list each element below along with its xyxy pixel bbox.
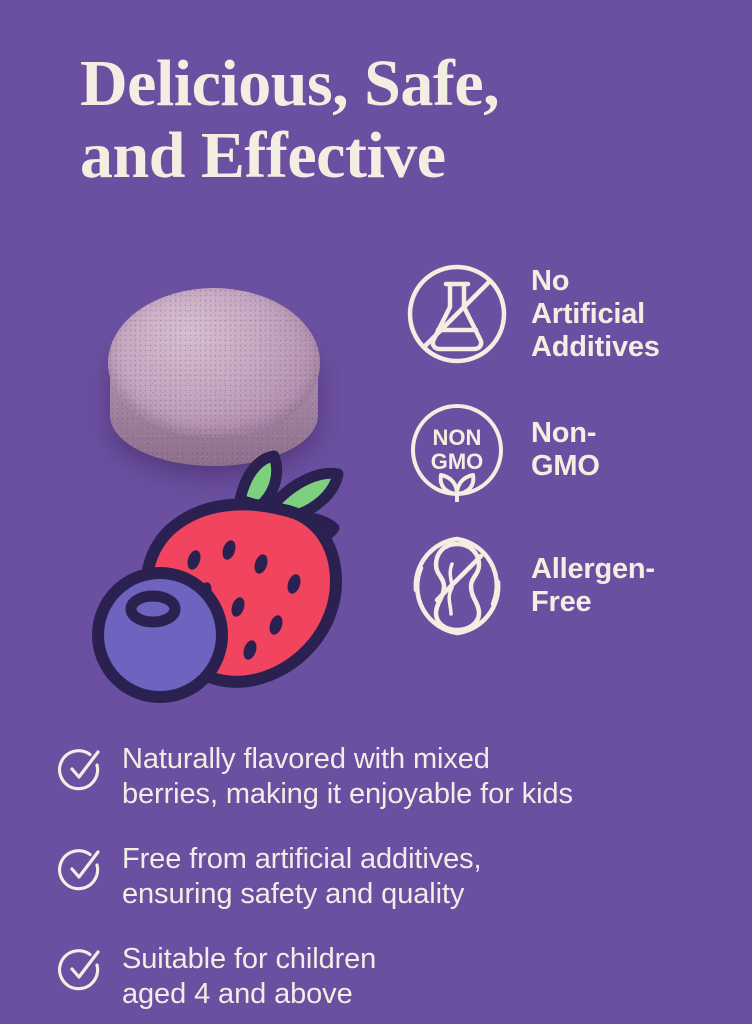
list-item-text: Naturally flavored with mixed berries, m… [122, 742, 573, 812]
product-illustration [0, 250, 400, 720]
certification-badges: No Artificial Additives NON GMO Non- [405, 262, 745, 638]
badge-no-artificial-additives: No Artificial Additives [405, 262, 745, 366]
badge-allergen-free: Allergen- Free [405, 534, 745, 638]
mixed-berries-illustration [88, 442, 388, 707]
badge-label-non-gmo: Non- GMO [531, 417, 600, 483]
non-gmo-sprout-icon: NON GMO [405, 398, 509, 502]
feature-bullet-list: Naturally flavored with mixed berries, m… [58, 742, 728, 1012]
list-item-line-2: ensuring safety and quality [122, 877, 482, 912]
list-item-line-1: Suitable for children [122, 942, 376, 977]
list-item-line-1: Naturally flavored with mixed [122, 742, 573, 777]
check-circle-icon [58, 846, 104, 892]
list-item: Suitable for children aged 4 and above [58, 942, 728, 1012]
list-item-line-2: berries, making it enjoyable for kids [122, 777, 573, 812]
list-item: Free from artificial additives, ensuring… [58, 842, 728, 912]
berries-svg [88, 442, 388, 707]
page-title-line-2: and Effective [80, 120, 720, 192]
check-circle-icon [58, 746, 104, 792]
product-infographic-page: Delicious, Safe, and Effective [0, 0, 752, 1024]
badge-label-line-3: Additives [531, 331, 660, 364]
badge-label-line-2: GMO [531, 450, 600, 483]
list-item-text: Free from artificial additives, ensuring… [122, 842, 482, 912]
list-item-line-1: Free from artificial additives, [122, 842, 482, 877]
badge-label-line-2: Free [531, 586, 655, 619]
tablet-top-face [108, 288, 320, 438]
badge-label-allergen-free: Allergen- Free [531, 553, 655, 619]
check-circle-icon [58, 946, 104, 992]
non-gmo-text-line-1: NON [433, 425, 482, 450]
page-title: Delicious, Safe, and Effective [80, 48, 720, 192]
list-item: Naturally flavored with mixed berries, m… [58, 742, 728, 812]
list-item-text: Suitable for children aged 4 and above [122, 942, 376, 1012]
badge-label-line-1: Non- [531, 417, 600, 450]
list-item-line-2: aged 4 and above [122, 977, 376, 1012]
badge-label-line-1: No [531, 265, 660, 298]
badge-label-line-1: Allergen- [531, 553, 655, 586]
chewable-tablet-image [108, 288, 322, 468]
non-gmo-text-line-2: GMO [431, 449, 484, 474]
allergen-free-peanut-icon [405, 534, 509, 638]
badge-label-no-artificial-additives: No Artificial Additives [531, 265, 660, 364]
badge-label-line-2: Artificial [531, 298, 660, 331]
page-title-line-1: Delicious, Safe, [80, 48, 720, 120]
badge-non-gmo: NON GMO Non- GMO [405, 398, 745, 502]
no-artificial-additives-flask-icon [405, 262, 509, 366]
